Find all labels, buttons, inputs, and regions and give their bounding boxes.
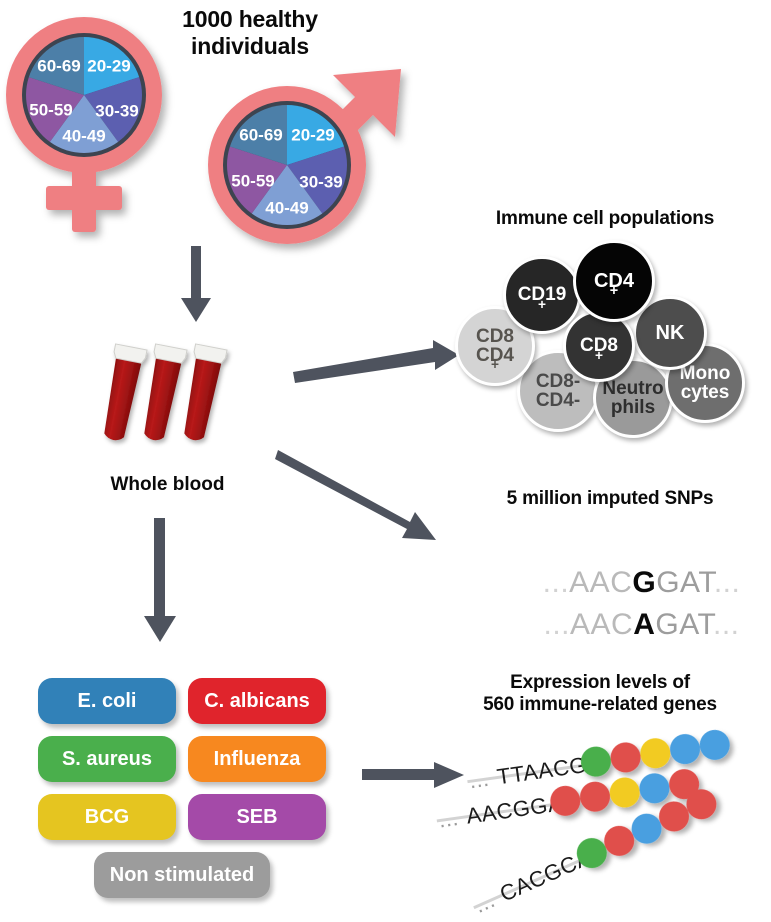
bead [608, 776, 642, 810]
stimulus-c-albicans[interactable]: C. albicans [188, 678, 326, 724]
arrow-blood-to-snps [278, 450, 453, 550]
snps-section-title: 5 million imputed SNPs [450, 488, 770, 510]
immune-cell-label: Monocytes [680, 364, 731, 403]
blood-tube-1 [98, 344, 147, 443]
pie-label-20-29: 20-29 [87, 56, 130, 75]
pie-label-40-49: 40-49 [265, 198, 308, 217]
arrow-down-cohort-to-blood [178, 246, 214, 326]
pie-label-30-39: 30-39 [299, 172, 342, 191]
immune-cell-cd4[interactable]: CD4+ [573, 240, 655, 322]
snp-right-bases: GAT [655, 608, 713, 641]
bead [637, 771, 671, 805]
immune-cell-label: CD8CD4+ [476, 327, 514, 366]
pie-label-20-29: 20-29 [291, 125, 334, 144]
pie-label-60-69: 60-69 [239, 125, 282, 144]
snp-sequences: ...AACGGAT... ...AACAGAT... [470, 532, 760, 622]
stimulus-label: BCG [85, 806, 129, 829]
whole-blood-label: Whole blood [85, 474, 250, 496]
stimulus-influenza[interactable]: Influenza [188, 736, 326, 782]
gene-expression-strands: ... TTAACGG ... AACGGAT [455, 745, 771, 915]
expression-title-line2: 560 immune-related genes [430, 694, 770, 716]
snp-variant-base: A [633, 608, 655, 641]
snp-prefix-dots: ... [544, 608, 571, 641]
bead [578, 780, 612, 814]
pie-label-40-49: 40-49 [62, 126, 105, 145]
stimulus-e-coli[interactable]: E. coli [38, 678, 176, 724]
diagram-canvas: 1000 healthy individuals [0, 0, 771, 922]
stimulus-seb[interactable]: SEB [188, 794, 326, 840]
immune-cell-label: NK [656, 323, 685, 343]
arrow-stimuli-to-expression [362, 756, 467, 796]
immune-section-title: Immune cell populations [440, 208, 770, 230]
strand-3-dots: ... [470, 887, 498, 918]
stimulus-label: Influenza [214, 748, 301, 771]
pie-label-60-69: 60-69 [37, 56, 80, 75]
snp-sequence-row: ...AACAGAT... [470, 574, 760, 676]
immune-cell-label: CD8+ [580, 336, 618, 355]
bead [609, 740, 643, 774]
bead [668, 732, 702, 766]
stimulus-label: SEB [236, 806, 277, 829]
blood-tubes-icon [95, 340, 245, 465]
pie-label-30-39: 30-39 [95, 101, 138, 120]
pie-label-50-59: 50-59 [29, 100, 72, 119]
strand-1-dots: ... [468, 766, 491, 794]
stimulus-label: S. aureus [62, 748, 152, 771]
female-symbol: 20-29 30-39 40-49 50-59 60-69 [6, 8, 196, 238]
immune-cell-label: CD19+ [518, 285, 567, 304]
bead [698, 728, 732, 762]
stimulus-label: C. albicans [204, 690, 310, 713]
stimulus-label: Non stimulated [110, 864, 254, 887]
immune-cell-cluster: CD19+CD4+CD8+NKMonocytesNeutrophilsCD8-C… [455, 238, 755, 423]
pie-label-50-59: 50-59 [231, 171, 274, 190]
strand-2-dots: ... [437, 805, 460, 833]
stimulus-bcg[interactable]: BCG [38, 794, 176, 840]
immune-cell-cd19[interactable]: CD19+ [503, 256, 581, 334]
immune-cell-cd8pos[interactable]: CD8+ [563, 310, 635, 382]
immune-cell-label: CD8-CD4- [536, 372, 580, 411]
female-age-pie: 20-29 30-39 40-49 50-59 60-69 [26, 37, 142, 153]
strand-1-beads [579, 728, 732, 779]
immune-cell-label: CD4+ [594, 271, 634, 291]
stimuli-panel: E. coliC. albicansS. aureusInfluenzaBCGS… [38, 678, 328, 898]
male-symbol: 20-29 30-39 40-49 50-59 60-69 [205, 65, 415, 250]
immune-cell-label: Neutrophils [602, 379, 663, 418]
stimulus-label: E. coli [78, 690, 137, 713]
bead [638, 736, 672, 770]
stimulus-s-aureus[interactable]: S. aureus [38, 736, 176, 782]
snp-suffix-dots: ... [713, 608, 740, 641]
expression-title-line1: Expression levels of [430, 672, 770, 694]
expression-section-title: Expression levels of 560 immune-related … [430, 672, 770, 717]
arrow-down-blood-to-stimuli [140, 518, 180, 644]
arrow-blood-to-immune [293, 336, 463, 386]
male-age-pie: 20-29 30-39 40-49 50-59 60-69 [227, 105, 347, 225]
stimulus-non-stimulated[interactable]: Non stimulated [94, 852, 271, 898]
snp-left-bases: AAC [570, 608, 633, 641]
